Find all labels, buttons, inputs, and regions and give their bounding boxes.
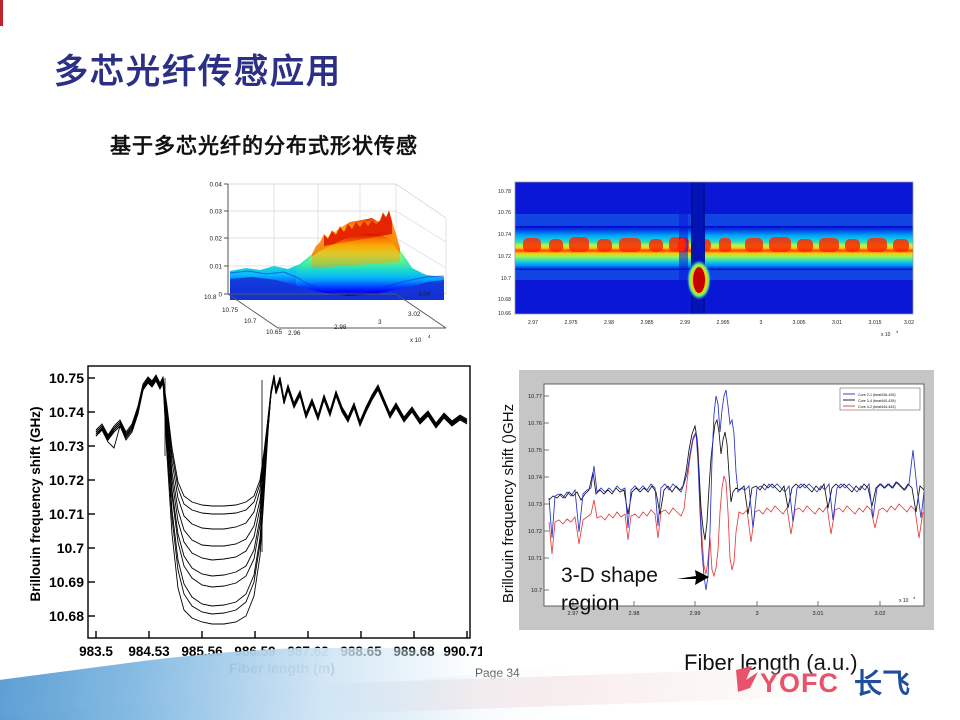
bl-ytick: 10.75 (49, 370, 84, 386)
surface-xtick: 3.02 (408, 311, 421, 318)
shape-region-annotation-line1: 3-D shape (561, 564, 658, 588)
heatmap-xtick: 3.005 (793, 320, 806, 326)
bl-xtick: 988.65 (340, 644, 382, 659)
bl-xtick: 989.68 (393, 644, 435, 659)
surface-ztick: 0.02 (210, 236, 223, 243)
br-ytick: 10.72 (528, 529, 542, 535)
br-xtick: 3.02 (875, 611, 886, 617)
bl-ylabel: Brillouin frequency shift (GHz) (28, 406, 43, 601)
heatmap-ytick: 10.78 (498, 189, 511, 195)
heatmap-xtick: 2.99 (680, 320, 690, 326)
surface-ytick: 10.65 (266, 329, 282, 336)
br-x-exponent: x 10 (899, 598, 909, 604)
bl-ytick: 10.73 (49, 438, 84, 454)
br-ytick: 10.73 (528, 502, 542, 508)
heatmap-x-exponent-sup: 4 (896, 329, 899, 334)
bl-xtick: 990.71 (443, 644, 482, 659)
br-ytick: 10.77 (528, 394, 542, 400)
heatmap-ytick: 10.76 (498, 210, 511, 216)
shape-region-annotation-line2: region (561, 592, 619, 616)
bl-xtick: 987.62 (287, 644, 328, 659)
surface-x-exponent: x 10 (410, 338, 422, 344)
surface-ztick: 0.01 (210, 264, 223, 271)
heatmap-xtick: 2.98 (604, 320, 614, 326)
heatmap-xtick: 3 (760, 320, 763, 326)
heatmap-ytick: 10.66 (498, 311, 511, 317)
surface-xtick: 2.96 (288, 330, 301, 337)
bl-xtick: 985.56 (181, 644, 223, 659)
surface-xtick: 3.04 (418, 291, 431, 298)
heatmap-cells (515, 182, 913, 314)
surface-ytick: 10.7 (244, 318, 257, 325)
br-ylabel: Brillouin frequency shift ()GHz (501, 403, 518, 602)
surface-ytick: 10.75 (222, 307, 238, 314)
surface-xtick: 3 (378, 319, 382, 326)
bl-ytick: 10.68 (49, 608, 84, 624)
br-xtick: 3 (755, 611, 758, 617)
surface-x-exponent-sup: 4 (428, 334, 431, 339)
slide-subtitle: 基于多芯光纤的分布式形状传感 (110, 130, 418, 160)
yofc-logo: YOFC 长飞 (732, 662, 932, 704)
br-xtick: 2.98 (629, 611, 640, 617)
surface-xtick: 2.98 (334, 324, 347, 331)
br-legend-item-2: Core 4-2 (beat444-443) (858, 405, 896, 409)
heatmap-xtick: 3.01 (832, 320, 842, 326)
page-title: 多芯光纤传感应用 (54, 44, 342, 93)
heatmap-ytick: 10.7 (501, 276, 511, 282)
logo-latin-text: YOFC (760, 668, 839, 698)
page-number: Page 34 (475, 666, 520, 680)
bl-ytick: 10.71 (49, 506, 84, 522)
bl-xtick: 986.59 (234, 644, 275, 659)
figure-3d-surface: 0.04 0.03 0.02 0.01 0 (200, 176, 450, 348)
heatmap-xtick: 3.02 (904, 320, 914, 326)
right-arrow-icon (676, 566, 710, 588)
heatmap-ytick: 10.74 (498, 232, 511, 238)
figure-bfs-vs-length: 10.75 10.74 10.73 10.72 10.71 10.7 10.69… (12, 356, 482, 686)
bl-xtick: 984.53 (128, 644, 170, 659)
bl-plot-frame (88, 366, 470, 638)
heatmap-xtick: 2.97 (528, 320, 538, 326)
heatmap-x-exponent: x 10 (881, 332, 891, 338)
heatmap-xtick: 3.015 (869, 320, 882, 326)
br-legend: Core 2-1 (beat436-435) Core 3-4 (beat440… (840, 388, 920, 410)
heatmap-xtick: 2.995 (717, 320, 730, 326)
figure-heatmap: 10.78 10.76 10.74 10.72 10.7 10.68 10.66… (463, 176, 950, 348)
br-ylabel-wrap: Brillouin frequency shift ()GHz (497, 378, 521, 628)
surface-ztick: 0 (218, 292, 222, 299)
bl-xtick: 983.5 (79, 644, 113, 659)
heatmap-xtick: 2.985 (641, 320, 654, 326)
bl-ytick: 10.69 (49, 574, 84, 590)
br-legend-item-1: Core 3-4 (beat440-439) (858, 399, 896, 403)
bl-xlabel: Fiber length (m) (229, 660, 335, 676)
slide-canvas: 多芯光纤传感应用 基于多芯光纤的分布式形状传感 (0, 0, 960, 720)
bl-ytick: 10.74 (49, 404, 84, 420)
surface-ztick: 0.04 (210, 182, 223, 189)
br-ytick: 10.75 (528, 448, 542, 454)
bl-ytick: 10.7 (57, 540, 84, 556)
heatmap-xtick: 2.975 (565, 320, 578, 326)
surface-ytick: 10.8 (204, 294, 217, 301)
bl-ytick: 10.72 (49, 472, 84, 488)
br-ytick: 10.74 (528, 475, 542, 481)
br-ytick: 10.7 (531, 588, 542, 594)
logo-cjk-text: 长飞 (854, 667, 910, 700)
surface-ztick: 0.03 (210, 209, 223, 216)
br-ytick: 10.76 (528, 421, 542, 427)
br-xtick: 2.99 (690, 611, 701, 617)
br-legend-item-0: Core 2-1 (beat436-435) (858, 393, 896, 397)
br-ytick: 10.71 (528, 556, 542, 562)
heatmap-ytick: 10.68 (498, 297, 511, 303)
accent-bar (0, 0, 3, 26)
logo-latin-mark (736, 666, 758, 692)
heatmap-ytick: 10.72 (498, 254, 511, 260)
br-xtick: 3.01 (813, 611, 824, 617)
